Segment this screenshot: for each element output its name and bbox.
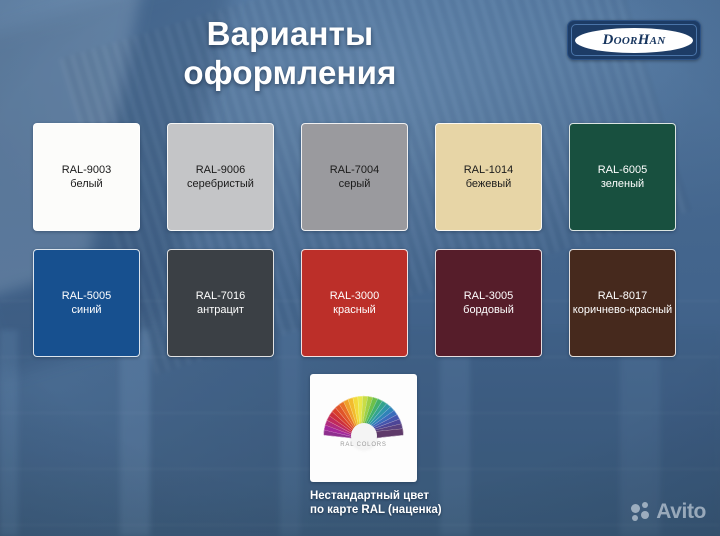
swatch-name: белый xyxy=(62,177,112,191)
page-title-line2: оформления xyxy=(0,53,580,92)
swatch-row-2: RAL-5005 синий RAL-7016 антрацит RAL-300… xyxy=(33,249,688,357)
swatch-ral-3000[interactable]: RAL-3000 красный xyxy=(301,249,408,357)
swatch-label: RAL-3005 бордовый xyxy=(463,289,514,317)
color-swatch-grid: RAL-9003 белый RAL-9006 серебристый RAL-… xyxy=(33,123,688,375)
swatch-code: RAL-7016 xyxy=(196,289,246,303)
custom-color-caption: Нестандартный цвет по карте RAL (наценка… xyxy=(310,489,418,517)
swatch-name: антрацит xyxy=(196,303,246,317)
swatch-label: RAL-3000 красный xyxy=(330,289,380,317)
swatch-label: RAL-9006 серебристый xyxy=(187,163,254,191)
avito-logo-icon xyxy=(631,502,651,522)
swatch-ral-6005[interactable]: RAL-6005 зеленый xyxy=(569,123,676,231)
swatch-code: RAL-5005 xyxy=(62,289,112,303)
swatch-ral-9003[interactable]: RAL-9003 белый xyxy=(33,123,140,231)
avito-watermark: Avito xyxy=(631,500,706,524)
swatch-name: серебристый xyxy=(187,177,254,191)
avito-brand-text: Avito xyxy=(656,500,706,524)
swatch-name: серый xyxy=(330,177,380,191)
swatch-label: RAL-8017 коричнево-красный xyxy=(573,289,672,317)
ral-fan-card: RAL COLORS xyxy=(310,374,417,482)
page-title-line1: Варианты xyxy=(207,15,374,52)
swatch-label: RAL-5005 синий xyxy=(62,289,112,317)
swatch-label: RAL-1014 бежевый xyxy=(464,163,514,191)
swatch-code: RAL-9003 xyxy=(62,163,112,177)
swatch-ral-7016[interactable]: RAL-7016 антрацит xyxy=(167,249,274,357)
swatch-label: RAL-6005 зеленый xyxy=(598,163,648,191)
swatch-label: RAL-9003 белый xyxy=(62,163,112,191)
slide-canvas: Варианты оформления DoorHan RAL-9003 бел… xyxy=(0,0,720,536)
custom-color-caption-line2: по карте RAL (наценка) xyxy=(310,503,418,517)
swatch-label: RAL-7016 антрацит xyxy=(196,289,246,317)
page-title: Варианты оформления xyxy=(0,14,580,92)
swatch-name: красный xyxy=(330,303,380,317)
swatch-name: бежевый xyxy=(464,177,514,191)
swatch-code: RAL-3000 xyxy=(330,289,380,303)
swatch-code: RAL-1014 xyxy=(464,163,514,177)
ral-fan-label: RAL COLORS xyxy=(340,442,386,448)
swatch-ral-8017[interactable]: RAL-8017 коричнево-красный xyxy=(569,249,676,357)
swatch-code: RAL-8017 xyxy=(573,289,672,303)
swatch-name: зеленый xyxy=(598,177,648,191)
swatch-ral-3005[interactable]: RAL-3005 бордовый xyxy=(435,249,542,357)
swatch-label: RAL-7004 серый xyxy=(330,163,380,191)
logo-ellipse: DoorHan xyxy=(575,28,693,53)
custom-color-block[interactable]: RAL COLORS Нестандартный цвет по карте R… xyxy=(310,374,418,517)
swatch-row-1: RAL-9003 белый RAL-9006 серебристый RAL-… xyxy=(33,123,688,231)
swatch-ral-1014[interactable]: RAL-1014 бежевый xyxy=(435,123,542,231)
custom-color-caption-line1: Нестандартный цвет xyxy=(310,490,429,502)
swatch-name: бордовый xyxy=(463,303,514,317)
swatch-ral-5005[interactable]: RAL-5005 синий xyxy=(33,249,140,357)
swatch-name: синий xyxy=(62,303,112,317)
swatch-ral-9006[interactable]: RAL-9006 серебристый xyxy=(167,123,274,231)
swatch-name: коричнево-красный xyxy=(573,303,672,317)
swatch-code: RAL-3005 xyxy=(463,289,514,303)
swatch-ral-7004[interactable]: RAL-7004 серый xyxy=(301,123,408,231)
logo-frame: DoorHan xyxy=(571,24,697,56)
logo-text: DoorHan xyxy=(602,32,665,49)
swatch-code: RAL-9006 xyxy=(187,163,254,177)
doorhan-logo: DoorHan xyxy=(567,20,701,60)
swatch-code: RAL-6005 xyxy=(598,163,648,177)
swatch-code: RAL-7004 xyxy=(330,163,380,177)
